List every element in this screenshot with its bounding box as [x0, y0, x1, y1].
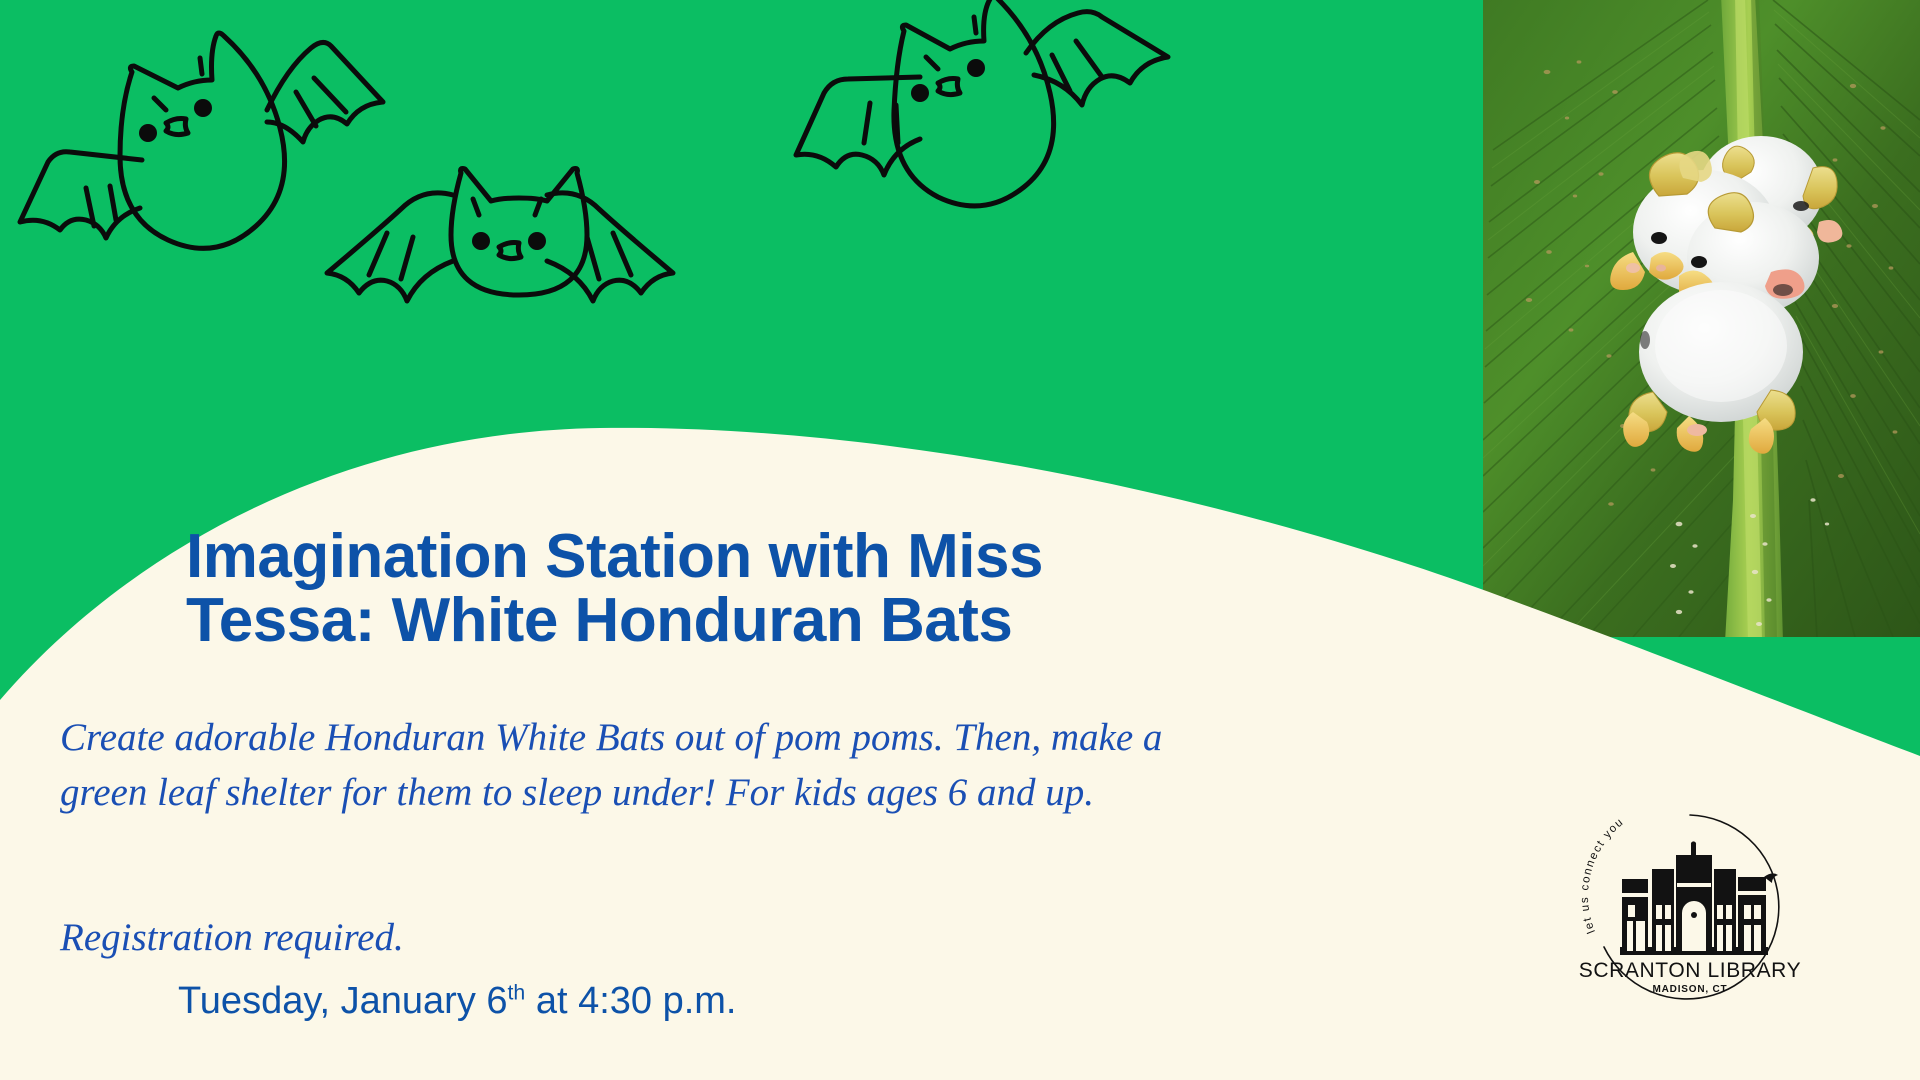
logo-location: MADISON, CT [1653, 984, 1728, 995]
description-line-1: Create adorable Honduran White Bats out … [60, 710, 1240, 765]
honduran-bats-photo [1483, 0, 1920, 637]
description-line-2: green leaf shelter for them to sleep und… [60, 765, 1240, 820]
bat-illustration-center [305, 165, 695, 330]
bat-illustration-right [790, 5, 1180, 200]
title-line-1: Imagination Station with Miss [186, 525, 1196, 589]
page-title: Imagination Station with Miss Tessa: Whi… [186, 525, 1196, 654]
logo-name: SCRANTON LIBRARY [1579, 959, 1801, 982]
registration-notice: Registration required. [60, 915, 404, 960]
scranton-library-logo: let us connect you [1578, 795, 1803, 1020]
event-time-suffix: at 4:30 p.m. [525, 980, 736, 1022]
flyer-canvas: Imagination Station with Miss Tessa: Whi… [0, 0, 1920, 1080]
event-date-prefix: Tuesday, January 6 [178, 980, 508, 1022]
title-line-2: Tessa: White Honduran Bats [186, 589, 1196, 653]
event-datetime: Tuesday, January 6th at 4:30 p.m. [178, 980, 737, 1023]
event-ordinal-suffix: th [508, 980, 526, 1004]
event-description: Create adorable Honduran White Bats out … [60, 710, 1240, 821]
logo-tagline-text: let us connect you [1579, 816, 1627, 935]
